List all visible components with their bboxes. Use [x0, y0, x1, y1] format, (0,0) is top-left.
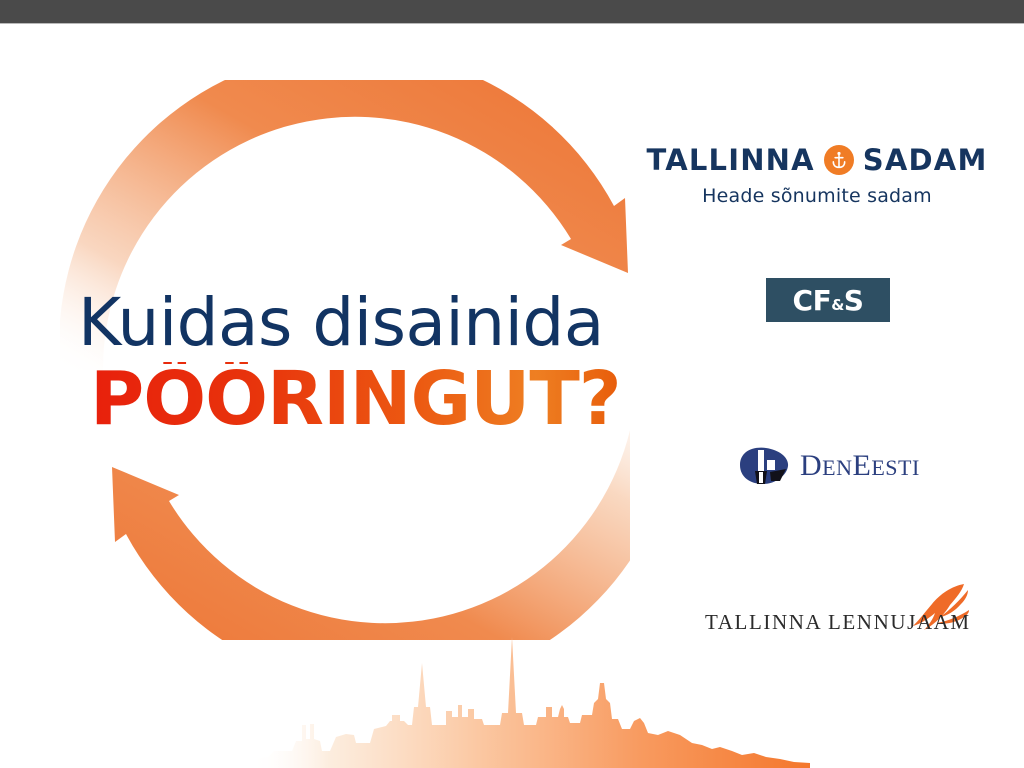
- deneesti-en: EN: [822, 455, 852, 480]
- cfs-text-tail: S: [844, 284, 864, 317]
- sadam-word-right: SADAM: [863, 143, 988, 177]
- cfs-text-main: CF: [793, 284, 832, 317]
- slide-headline: Kuidas disainida PÖÖRINGUT?: [78, 290, 621, 436]
- window-title-bar: [0, 0, 1024, 24]
- logo-cfs: CF&S: [766, 278, 890, 322]
- cfs-box: CF&S: [766, 278, 890, 322]
- sadam-wordmark: TALLINNA SADAM: [672, 143, 962, 177]
- deneesti-esti: ESTI: [871, 455, 919, 480]
- deneesti-emblem-icon: [736, 443, 792, 489]
- cfs-wordmark: CF&S: [793, 284, 864, 317]
- cfs-ampersand: &: [831, 296, 844, 314]
- page-title-line-2: PÖÖRINGUT?: [90, 362, 621, 436]
- sadam-word-left: TALLINNA: [646, 143, 814, 177]
- deneesti-e: E: [853, 449, 872, 482]
- slide-canvas: Kuidas disainida PÖÖRINGUT? TALLINNA SAD…: [0, 25, 1024, 768]
- logo-tallinna-lennujaam: TALLINNA LENNUJAAM: [700, 580, 970, 650]
- logo-tallinna-sadam: TALLINNA SADAM Heade sõnumite sadam: [672, 143, 962, 207]
- anchor-icon: [824, 145, 854, 175]
- sadam-tagline: Heade sõnumite sadam: [672, 185, 962, 207]
- page-title-line-1: Kuidas disainida: [78, 290, 621, 356]
- lennujaam-wordmark: TALLINNA LENNUJAAM: [705, 610, 971, 635]
- deneesti-wordmark: DENEESTI: [800, 449, 920, 483]
- deneesti-d: D: [800, 449, 822, 482]
- logo-deneesti: DENEESTI: [736, 443, 920, 489]
